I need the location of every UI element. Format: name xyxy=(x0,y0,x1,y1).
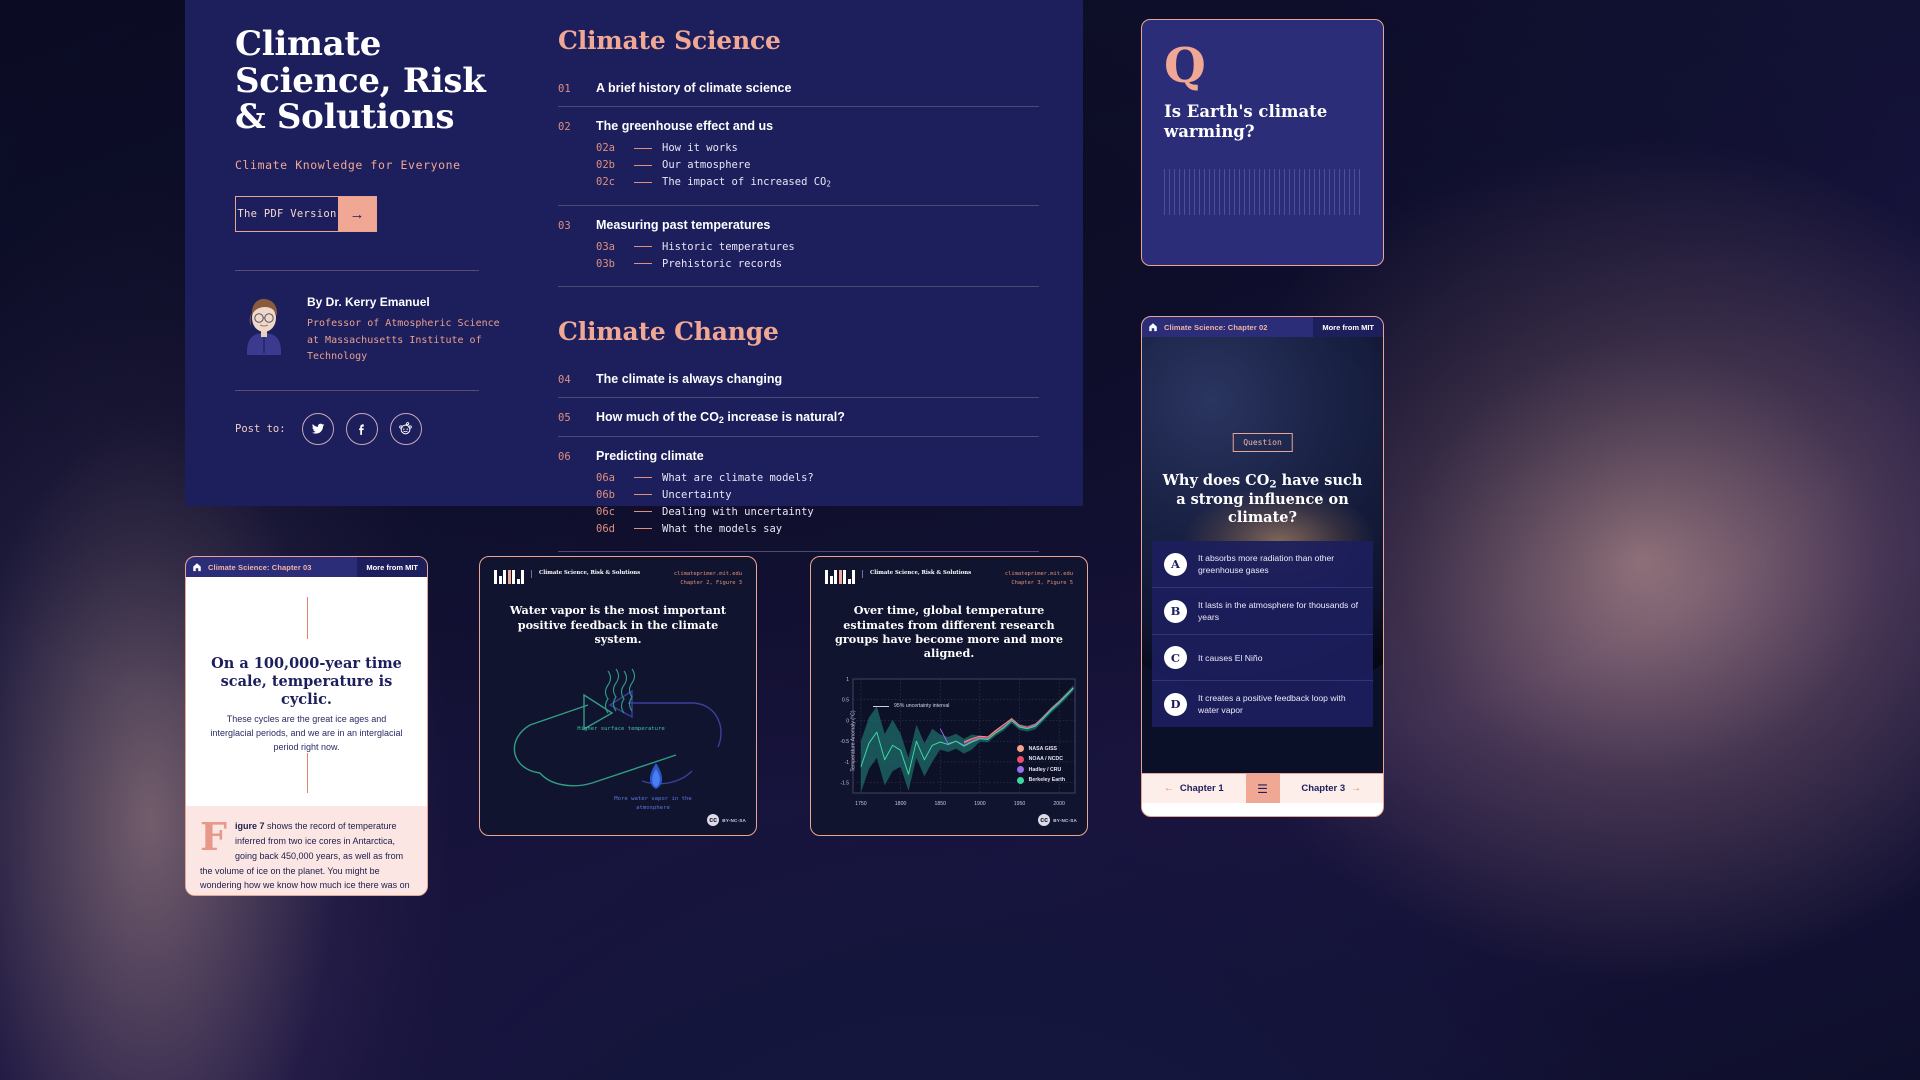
q-letter: Q xyxy=(1164,44,1361,90)
answer-option[interactable]: A It absorbs more radiation than other g… xyxy=(1152,541,1373,588)
legend-swatch xyxy=(1017,745,1024,752)
chapter-subtext: These cycles are the great ice ages and … xyxy=(206,713,407,755)
toc-label: Measuring past temperatures xyxy=(596,218,770,232)
toc-subitem-id: 06b xyxy=(596,489,634,501)
decorative-bars xyxy=(1164,169,1361,215)
diagram-label-surface: Higher surface temperature xyxy=(566,725,676,734)
toc-subitem[interactable]: 03a Historic temperatures xyxy=(596,241,1039,253)
toc-section-title: Climate Science xyxy=(558,26,1039,55)
creative-commons-badge: cc BY-NC-SA xyxy=(1038,814,1077,826)
dash-icon xyxy=(634,263,652,264)
twitter-icon[interactable] xyxy=(302,413,334,445)
phone-top-bar: Climate Science: Chapter 03 More from MI… xyxy=(186,557,427,577)
toc-row[interactable]: 03 Measuring past temperatures 03a Histo… xyxy=(558,206,1039,287)
pdf-version-button[interactable]: The PDF Version → xyxy=(235,196,377,232)
toc-section-climate-change: Climate Change 04 The climate is always … xyxy=(558,317,1039,552)
toc-section-climate-science: Climate Science 01 A brief history of cl… xyxy=(558,26,1039,287)
figure-lead: igure 7 xyxy=(235,821,265,831)
toc-label: A brief history of climate science xyxy=(596,81,791,95)
phone-body: On a 100,000-year time scale, temperatur… xyxy=(186,577,427,895)
toc-label: How much of the CO2 increase is natural? xyxy=(596,410,845,425)
svg-text:0.5: 0.5 xyxy=(842,698,849,704)
toc-subitem-label: How it works xyxy=(662,142,738,154)
hero-subtitle: Climate Knowledge for Everyone xyxy=(235,158,512,172)
prev-chapter-label: Chapter 1 xyxy=(1180,783,1224,794)
answer-text: It lasts in the atmosphere for thousands… xyxy=(1198,599,1361,623)
diagram-label-vapor: More water vapor in the atmosphere xyxy=(598,795,708,813)
mit-mark-icon xyxy=(825,570,855,584)
toc-subitem[interactable]: 03b Prehistoric records xyxy=(596,258,1039,270)
svg-text:1750: 1750 xyxy=(855,801,867,807)
toc-sublist: 03a Historic temperatures 03b Prehistori… xyxy=(596,241,1039,270)
home-icon[interactable] xyxy=(186,562,208,572)
svg-text:0: 0 xyxy=(846,718,849,724)
toc-subitem-id: 06a xyxy=(596,472,634,484)
license-label: BY-NC-SA xyxy=(1053,818,1077,823)
divider-line-bottom xyxy=(307,753,308,793)
figure-paragraph: igure 7 shows the record of temperature … xyxy=(200,819,413,895)
toc-subitem-id: 03b xyxy=(596,258,634,270)
svg-text:1: 1 xyxy=(846,677,849,683)
toc-row[interactable]: 05 How much of the CO2 increase is natur… xyxy=(558,398,1039,437)
toc-number: 05 xyxy=(558,412,596,424)
toc-label: The greenhouse effect and us xyxy=(596,119,773,133)
table-of-contents: Climate Science 01 A brief history of cl… xyxy=(550,0,1083,506)
dash-icon xyxy=(634,148,652,149)
legend-item: NOAA / NCDC xyxy=(1017,756,1065,763)
mit-logo: Climate Science, Risk & Solutions xyxy=(494,570,640,587)
mit-logo: Climate Science, Risk & Solutions xyxy=(825,570,971,587)
toc-subitem[interactable]: 06c Dealing with uncertainty xyxy=(596,506,1039,518)
svg-text:1850: 1850 xyxy=(934,801,946,807)
dash-icon xyxy=(634,511,652,512)
toc-subitem-label: Historic temperatures xyxy=(662,241,795,253)
figure-header: Climate Science, Risk & Solutions climat… xyxy=(480,557,756,587)
toc-subitem-label: Dealing with uncertainty xyxy=(662,506,814,518)
toc-subitem-id: 06c xyxy=(596,506,634,518)
legend-label: NOAA / NCDC xyxy=(1029,756,1063,762)
toc-subitem-label: Uncertainty xyxy=(662,489,732,501)
toc-subitem[interactable]: 02b Our atmosphere xyxy=(596,159,1039,171)
cc-icon: cc xyxy=(1038,814,1050,826)
figure-site: climateprimer.mit.edu xyxy=(1005,570,1073,579)
page-title: Climate Science, Risk & Solutions xyxy=(235,26,512,136)
legend-item: Berkeley Earth xyxy=(1017,777,1065,784)
toc-subitem-id: 02a xyxy=(596,142,634,154)
svg-text:1950: 1950 xyxy=(1014,801,1026,807)
figure-site: climateprimer.mit.edu xyxy=(674,570,742,579)
phone-mockup-chapter-02: Climate Science: Chapter 02 More from MI… xyxy=(1141,316,1384,817)
figure-card-temperature-chart: Climate Science, Risk & Solutions climat… xyxy=(810,556,1088,836)
toc-subitem[interactable]: 02c The impact of increased CO2 xyxy=(596,176,1039,189)
chart-annotation: 95% uncertainty interval xyxy=(873,703,949,709)
author-name: By Dr. Kerry Emanuel xyxy=(307,295,512,309)
toc-subitem-id: 02b xyxy=(596,159,634,171)
chart-area: Temperature Anomaly (°C) 10.50-0.5-1-1.5… xyxy=(819,673,1081,809)
toc-subitem-label: What the models say xyxy=(662,523,782,535)
dash-icon xyxy=(634,182,652,183)
figure-header: Climate Science, Risk & Solutions climat… xyxy=(811,557,1087,587)
toc-subitem-id: 06d xyxy=(596,523,634,535)
toc-subitem[interactable]: 06b Uncertainty xyxy=(596,489,1039,501)
phone-mockup-chapter-03: Climate Science: Chapter 03 More from MI… xyxy=(185,556,428,896)
divider-line-top xyxy=(307,597,308,639)
dash-icon xyxy=(634,494,652,495)
author-block: By Dr. Kerry Emanuel Professor of Atmosp… xyxy=(235,293,512,366)
toc-subitem-label: The impact of increased CO2 xyxy=(662,176,831,189)
toc-row[interactable]: 06 Predicting climate 06a What are clima… xyxy=(558,437,1039,552)
arrow-right-icon: → xyxy=(338,197,376,231)
mit-brand-text: Climate Science, Risk & Solutions xyxy=(531,570,640,578)
figure-ref: Chapter 2, Figure 3 xyxy=(674,579,742,588)
legend-swatch xyxy=(1017,756,1024,763)
legend-swatch xyxy=(1017,766,1024,773)
hamburger-icon[interactable]: ☰ xyxy=(1246,774,1280,803)
question-card[interactable]: Q Is Earth's climate warming? xyxy=(1141,19,1384,266)
author-text: By Dr. Kerry Emanuel Professor of Atmosp… xyxy=(307,293,512,366)
toc-sublist: 06a What are climate models? 06b Uncerta… xyxy=(596,472,1039,535)
legend-label: Hadley / CRU xyxy=(1029,767,1062,773)
drop-cap: F xyxy=(200,821,227,852)
creative-commons-badge: cc BY-NC-SA xyxy=(707,814,746,826)
figure-paragraph-block: F igure 7 shows the record of temperatur… xyxy=(186,806,427,895)
svg-text:-1: -1 xyxy=(845,760,850,766)
toc-subitem[interactable]: 02a How it works xyxy=(596,142,1039,154)
chapter-headline: On a 100,000-year time scale, temperatur… xyxy=(202,655,411,709)
arrow-left-icon: ← xyxy=(1164,783,1174,794)
legend-label: NASA GISS xyxy=(1029,746,1057,752)
phone-question-text: Why does CO2 have such a strong influenc… xyxy=(1158,472,1367,528)
svg-text:1900: 1900 xyxy=(974,801,986,807)
toc-sublist: 02a How it works 02b Our atmosphere 02c … xyxy=(596,142,1039,189)
answer-letter: C xyxy=(1164,646,1187,669)
toc-row[interactable]: 01 A brief history of climate science xyxy=(558,69,1039,107)
toc-number: 06 xyxy=(558,451,596,463)
answer-option[interactable]: D It creates a positive feedback loop wi… xyxy=(1152,681,1373,727)
figure-meta: climateprimer.mit.edu Chapter 2, Figure … xyxy=(674,570,742,587)
toc-label: Predicting climate xyxy=(596,449,704,463)
more-from-mit-link[interactable]: More from MIT xyxy=(357,557,427,577)
hero-left-column: Climate Science, Risk & Solutions Climat… xyxy=(185,0,550,506)
figure-title: Over time, global temperature estimates … xyxy=(833,603,1065,660)
question-tag: Question xyxy=(1232,433,1293,452)
svg-text:2000: 2000 xyxy=(1053,801,1065,807)
toc-number: 02 xyxy=(558,121,596,133)
next-chapter-button[interactable]: Chapter 3 → xyxy=(1280,774,1384,803)
home-icon[interactable] xyxy=(1142,322,1164,332)
phone-bar-title: Climate Science: Chapter 03 xyxy=(208,563,357,572)
dash-icon xyxy=(634,528,652,529)
cc-icon: cc xyxy=(707,814,719,826)
toc-subitem-id: 03a xyxy=(596,241,634,253)
chart-y-axis-label: Temperature Anomaly (°C) xyxy=(851,710,857,771)
toc-subitem[interactable]: 06a What are climate models? xyxy=(596,472,1039,484)
answer-letter: A xyxy=(1164,553,1187,576)
svg-text:1800: 1800 xyxy=(895,801,907,807)
toc-row[interactable]: 02 The greenhouse effect and us 02a How … xyxy=(558,107,1039,206)
more-from-mit-link[interactable]: More from MIT xyxy=(1313,317,1383,337)
figure-title: Water vapor is the most important positi… xyxy=(502,603,734,646)
next-chapter-label: Chapter 3 xyxy=(1301,783,1345,794)
phone-top-bar: Climate Science: Chapter 02 More from MI… xyxy=(1142,317,1383,337)
toc-subitem-id: 02c xyxy=(596,176,634,188)
toc-subitem-label: Prehistoric records xyxy=(662,258,782,270)
author-role: Professor of Atmospheric Science at Mass… xyxy=(307,316,512,366)
hero-panel: Climate Science, Risk & Solutions Climat… xyxy=(185,0,1083,506)
feedback-loop-diagram: Higher surface temperature More water va… xyxy=(480,643,756,811)
divider-social xyxy=(235,390,479,391)
chart-legend: NASA GISS NOAA / NCDC Hadley / CRU Berke… xyxy=(1017,745,1065,787)
answer-text: It causes El Niño xyxy=(1198,652,1262,664)
legend-label: Berkeley Earth xyxy=(1029,777,1065,783)
dash-icon xyxy=(634,246,652,247)
facebook-icon[interactable] xyxy=(346,413,378,445)
toc-number: 03 xyxy=(558,220,596,232)
legend-swatch xyxy=(1017,777,1024,784)
toc-number: 01 xyxy=(558,83,596,95)
phone-bottom-nav: ← Chapter 1 ☰ Chapter 3 → xyxy=(1142,773,1383,803)
figure-ref: Chapter 3, Figure 5 xyxy=(1005,579,1073,588)
divider-author xyxy=(235,270,479,271)
toc-row[interactable]: 04 The climate is always changing xyxy=(558,360,1039,398)
annotation-text: 95% uncertainty interval xyxy=(894,703,949,709)
social-share-row: Post to: xyxy=(235,413,512,445)
legend-item: Hadley / CRU xyxy=(1017,766,1065,773)
mit-mark-icon xyxy=(494,570,524,584)
answer-option[interactable]: C It causes El Niño xyxy=(1152,635,1373,681)
answer-letter: B xyxy=(1164,600,1187,623)
answer-option[interactable]: B It lasts in the atmosphere for thousan… xyxy=(1152,588,1373,635)
toc-number: 04 xyxy=(558,374,596,386)
avatar xyxy=(235,293,293,355)
dash-icon xyxy=(634,477,652,478)
annotation-dash-icon xyxy=(873,706,889,707)
arrow-right-icon: → xyxy=(1351,783,1361,794)
svg-text:-0.5: -0.5 xyxy=(840,739,849,745)
answer-letter: D xyxy=(1164,693,1187,716)
toc-label: The climate is always changing xyxy=(596,372,782,386)
figure-body: shows the record of temperature inferred… xyxy=(200,821,410,895)
chart-svg: 10.50-0.5-1-1.5175018001850190019502000 xyxy=(819,673,1083,811)
toc-subitem[interactable]: 06d What the models say xyxy=(596,523,1039,535)
phone-bar-title: Climate Science: Chapter 02 xyxy=(1164,323,1313,332)
legend-item: NASA GISS xyxy=(1017,745,1065,752)
license-label: BY-NC-SA xyxy=(722,818,746,823)
toc-section-title: Climate Change xyxy=(558,317,1039,346)
post-to-label: Post to: xyxy=(235,423,286,435)
q-question-text: Is Earth's climate warming? xyxy=(1164,102,1361,143)
prev-chapter-button[interactable]: ← Chapter 1 xyxy=(1142,774,1246,803)
toc-subitem-label: What are climate models? xyxy=(662,472,814,484)
figure-meta: climateprimer.mit.edu Chapter 3, Figure … xyxy=(1005,570,1073,587)
svg-text:-1.5: -1.5 xyxy=(840,781,849,787)
answer-text: It creates a positive feedback loop with… xyxy=(1198,692,1361,716)
answer-list: A It absorbs more radiation than other g… xyxy=(1152,541,1373,727)
dash-icon xyxy=(634,165,652,166)
figure-card-water-vapor: Climate Science, Risk & Solutions climat… xyxy=(479,556,757,836)
pdf-button-label: The PDF Version xyxy=(236,197,338,231)
phone-body: Question Why does CO2 have such a strong… xyxy=(1142,337,1383,803)
mit-brand-text: Climate Science, Risk & Solutions xyxy=(862,570,971,578)
toc-subitem-label: Our atmosphere xyxy=(662,159,751,171)
reddit-icon[interactable] xyxy=(390,413,422,445)
answer-text: It absorbs more radiation than other gre… xyxy=(1198,552,1361,576)
